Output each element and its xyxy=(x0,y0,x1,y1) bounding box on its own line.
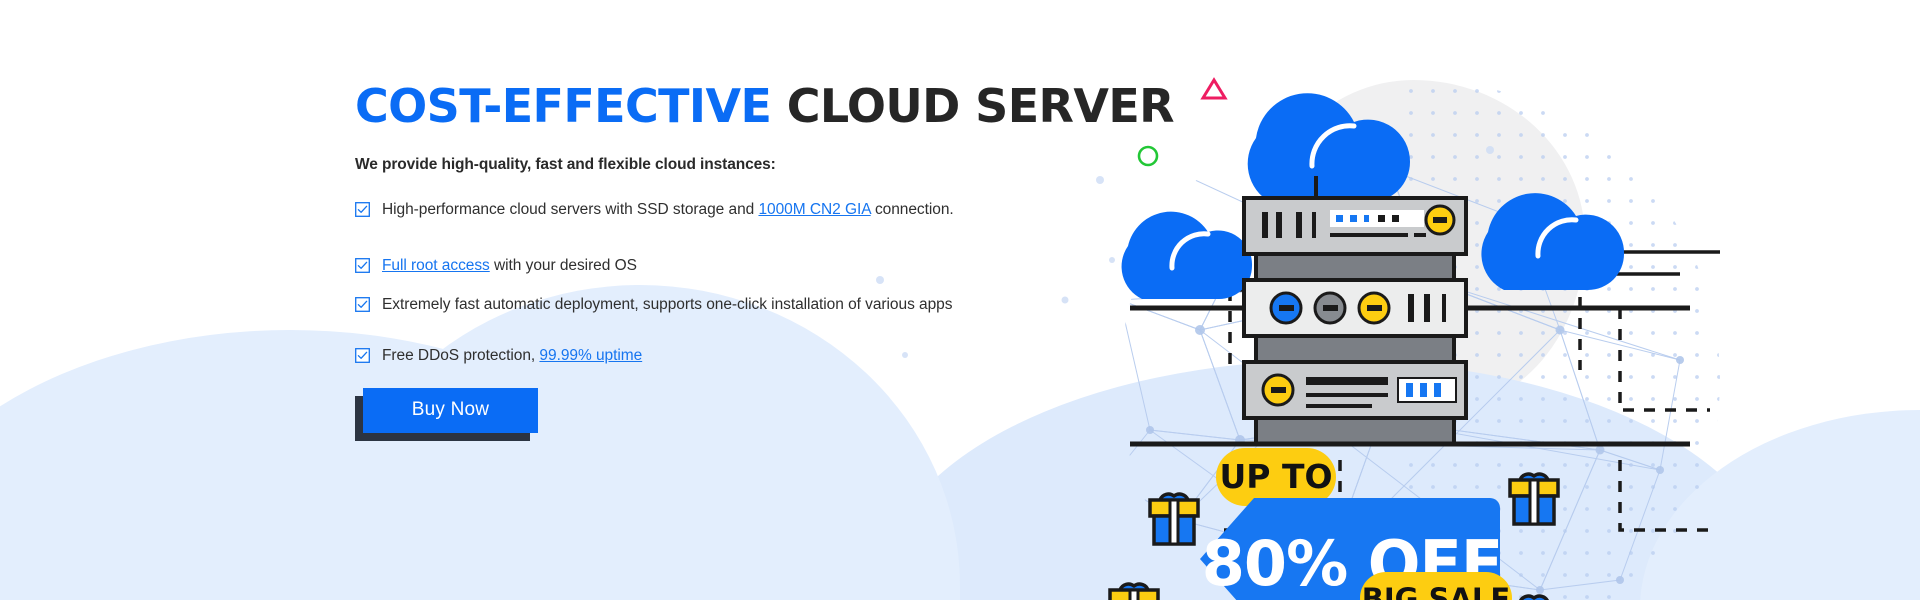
checkbox-checked-icon[interactable] xyxy=(355,258,370,273)
buy-now-button[interactable]: Buy Now xyxy=(363,388,538,433)
gift-box-icon xyxy=(1510,474,1558,524)
server-unit-1 xyxy=(1244,198,1466,280)
subtitle: We provide high-quality, fast and flexib… xyxy=(355,156,1075,174)
headline-rest: CLOUD SERVER xyxy=(771,79,1174,133)
server-rack-stack xyxy=(1244,198,1466,444)
server-unit-3 xyxy=(1244,362,1466,444)
list-item-text: Free DDoS protection, 99.99% uptime xyxy=(382,346,642,365)
feature-text-post: connection. xyxy=(871,201,954,218)
list-item-text: High-performance cloud servers with SSD … xyxy=(382,200,954,219)
gift-box-icon xyxy=(1110,584,1158,600)
promo-banner: COST-EFFECTIVE CLOUD SERVER We provide h… xyxy=(0,0,1920,600)
headline-accent: COST-EFFECTIVE xyxy=(355,79,771,133)
list-item-text: Extremely fast automatic deployment, sup… xyxy=(382,295,952,314)
feature-text-pre: High-performance cloud servers with SSD … xyxy=(382,201,758,218)
circle-outline-green-icon xyxy=(1139,147,1157,165)
list-item-text: Full root access with your desired OS xyxy=(382,256,637,275)
feature-text-pre: Free DDoS protection, xyxy=(382,347,539,364)
checkbox-checked-icon[interactable] xyxy=(355,202,370,217)
gift-box-icon xyxy=(1510,596,1558,600)
link-uptime[interactable]: 99.99% uptime xyxy=(539,347,642,364)
list-item: Full root access with your desired OS xyxy=(355,256,1075,275)
checkbox-checked-icon[interactable] xyxy=(355,297,370,312)
promo-up-to-text: UP TO xyxy=(1219,457,1332,496)
triangle-outline-pink-icon xyxy=(1203,80,1225,98)
gift-box-icon xyxy=(1150,494,1198,544)
promo-big-sale-text: BIG SALE xyxy=(1362,582,1510,600)
list-item: Extremely fast automatic deployment, sup… xyxy=(355,295,1075,314)
feature-text-post: with your desired OS xyxy=(490,257,637,274)
server-unit-2 xyxy=(1244,280,1466,362)
list-item: Free DDoS protection, 99.99% uptime xyxy=(355,346,1075,365)
buy-now-button-wrapper: Buy Now xyxy=(355,388,530,433)
list-item: High-performance cloud servers with SSD … xyxy=(355,200,1075,219)
banner-content: COST-EFFECTIVE CLOUD SERVER We provide h… xyxy=(355,82,1075,433)
link-cn2-gia[interactable]: 1000M CN2 GIA xyxy=(758,201,870,218)
checkbox-checked-icon[interactable] xyxy=(355,348,370,363)
promo-up-to-badge: UP TO xyxy=(1216,448,1336,506)
cloud-shape-left xyxy=(1122,212,1252,299)
promo-big-sale-badge: BIG SALE xyxy=(1360,572,1512,600)
page-title: COST-EFFECTIVE CLOUD SERVER xyxy=(355,82,1075,130)
feature-list: High-performance cloud servers with SSD … xyxy=(355,200,1075,366)
cloud-shape-large-top xyxy=(1248,93,1410,202)
cloud-shape-right xyxy=(1481,193,1624,290)
link-full-root-access[interactable]: Full root access xyxy=(382,257,490,274)
